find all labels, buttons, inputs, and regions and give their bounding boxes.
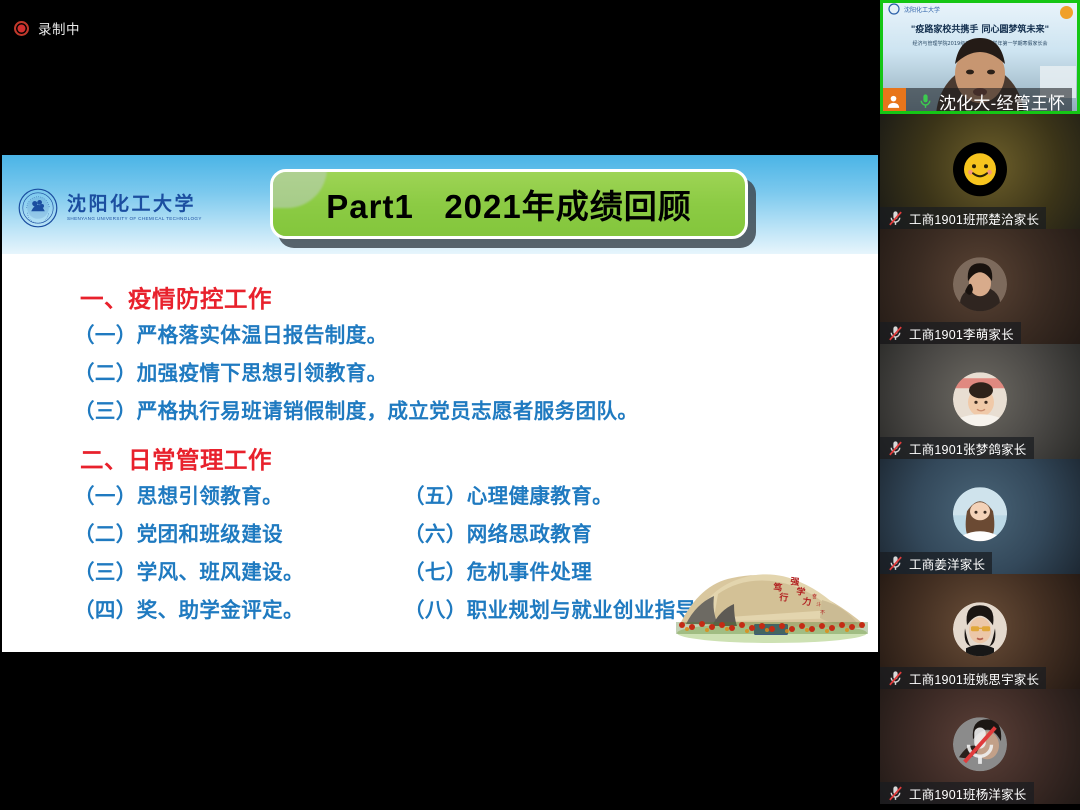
- participant-name: 工商姜洋家长: [909, 554, 985, 573]
- svg-text:沈阳化工大学: 沈阳化工大学: [904, 6, 940, 14]
- slide-title-text: Part1 2021年成绩回顾: [326, 180, 691, 228]
- avatar: [953, 257, 1007, 311]
- plaque-gloss: [270, 169, 327, 208]
- photo-avatar-icon: [953, 602, 1007, 656]
- host-icon: [880, 88, 906, 114]
- participant-tile[interactable]: 工商1901班杨洋家长: [880, 689, 1080, 804]
- slide-body: 一、疫情防控工作 （一）严格落实体温日报告制度。 （二）加强疫情下思想引领教育。…: [2, 254, 878, 652]
- list-item: （一）严格落实体温日报告制度。: [74, 317, 878, 355]
- participant-tile[interactable]: 工商姜洋家长: [880, 459, 1080, 574]
- avatar: [953, 372, 1007, 426]
- section-2-right-column: （五）心理健康教育。 （六）网络思政教育 （七）危机事件处理 （八）职业规划与就…: [404, 478, 784, 630]
- section-1-list: （一）严格落实体温日报告制度。 （二）加强疫情下思想引领教育。 （三）严格执行易…: [74, 317, 878, 431]
- participant-tile[interactable]: 工商1901张梦鸽家长: [880, 344, 1080, 459]
- university-name-en: SHENYANG UNIVERSITY OF CHEMICAL TECHNOLO…: [67, 216, 202, 221]
- microphone-muted-icon: [887, 210, 904, 227]
- recording-label: 录制中: [38, 18, 80, 38]
- list-item: （二）党团和班级建设: [74, 516, 404, 554]
- avatar: [953, 487, 1007, 541]
- microphone-muted-icon: [887, 440, 904, 457]
- participant-tile[interactable]: 工商1901班邢楚洽家长: [880, 114, 1080, 229]
- participant-name: 沈化大-经管王怀: [939, 89, 1065, 114]
- photo-avatar-icon: [953, 257, 1007, 311]
- presentation-slide: 沈阳化工大学 SHENYANG UNIVERSITY OF CHEMICAL T…: [2, 155, 878, 652]
- university-name-cn: 沈阳化工大学: [67, 195, 202, 214]
- person-icon: [885, 93, 902, 110]
- participant-name: 工商1901班邢楚洽家长: [909, 209, 1039, 228]
- slide-header-band: 沈阳化工大学 SHENYANG UNIVERSITY OF CHEMICAL T…: [2, 155, 878, 254]
- participant-tile-active-speaker[interactable]: 沈阳化工大学 "疫路家校共携手 同心圆梦筑未来" 经济与管理学院2019级202…: [880, 0, 1080, 114]
- recording-indicator: 录制中: [0, 0, 880, 56]
- microphone-muted-icon: [887, 670, 904, 687]
- participant-tile[interactable]: 工商1901班姚思宇家长: [880, 574, 1080, 689]
- meeting-screen-share-window: 录制中 沈阳: [0, 0, 1080, 810]
- list-item: （三）学风、班风建设。: [74, 554, 404, 592]
- participant-tile[interactable]: 工商1901李萌家长: [880, 229, 1080, 344]
- participant-name: 工商1901张梦鸽家长: [909, 439, 1027, 458]
- slide-title-plaque: Part1 2021年成绩回顾: [270, 169, 748, 239]
- university-logo: 沈阳化工大学 SHENYANG UNIVERSITY OF CHEMICAL T…: [18, 188, 202, 228]
- shared-screen-stage: 沈阳化工大学 SHENYANG UNIVERSITY OF CHEMICAL T…: [0, 56, 880, 810]
- slide-section-1: 一、疫情防控工作 （一）严格落实体温日报告制度。 （二）加强疫情下思想引领教育。…: [2, 280, 878, 431]
- list-item: （七）危机事件处理: [404, 554, 784, 592]
- svg-text:"疫路家校共携手 同心圆梦筑未来": "疫路家校共携手 同心圆梦筑未来": [911, 23, 1050, 35]
- university-seal-icon: [18, 188, 58, 228]
- list-item: （二）加强疫情下思想引领教育。: [74, 355, 878, 393]
- avatar: [953, 602, 1007, 656]
- recording-dot-icon: [14, 21, 29, 36]
- participant-name: 工商1901班杨洋家长: [909, 784, 1027, 803]
- connection-status-dot: [1060, 6, 1073, 19]
- list-item: （五）心理健康教育。: [404, 478, 784, 516]
- participant-name: 工商1901李萌家长: [909, 324, 1014, 343]
- list-item: （六）网络思政教育: [404, 516, 784, 554]
- section-1-heading: 一、疫情防控工作: [80, 280, 878, 314]
- microphone-muted-icon: [887, 785, 904, 802]
- photo-avatar-icon: [953, 487, 1007, 541]
- microphone-icon: [917, 93, 934, 110]
- list-item: （八）职业规划与就业创业指导: [404, 592, 784, 630]
- participant-name-bar: 工商姜洋家长: [880, 552, 992, 574]
- photo-avatar-icon: [953, 372, 1007, 426]
- participant-name-bar: 工商1901李萌家长: [880, 322, 1021, 344]
- microphone-muted-icon: [887, 555, 904, 572]
- participant-name-bar: 工商1901班姚思宇家长: [880, 667, 1046, 689]
- avatar: [953, 142, 1007, 196]
- list-item: （一）思想引领教育。: [74, 478, 404, 516]
- section-2-columns: （一）思想引领教育。 （二）党团和班级建设 （三）学风、班风建设。 （四）奖、助…: [74, 478, 878, 630]
- list-item: （四）奖、助学金评定。: [74, 592, 404, 630]
- speaker-name-bar: 沈化大-经管王怀: [880, 88, 1072, 114]
- participant-name: 工商1901班姚思宇家长: [909, 669, 1039, 688]
- microphone-muted-icon: [887, 325, 904, 342]
- section-2-left-column: （一）思想引领教育。 （二）党团和班级建设 （三）学风、班风建设。 （四）奖、助…: [74, 478, 404, 630]
- plaque-face: Part1 2021年成绩回顾: [270, 169, 748, 239]
- smiley-emoji-icon: [960, 149, 1000, 189]
- list-item: （三）严格执行易班请销假制度，成立党员志愿者服务团队。: [74, 393, 878, 431]
- section-2-heading: 二、日常管理工作: [80, 441, 878, 475]
- participant-name-bar: 工商1901班杨洋家长: [880, 782, 1034, 804]
- participant-name-bar: 工商1901张梦鸽家长: [880, 437, 1034, 459]
- slide-section-2: 二、日常管理工作 （一）思想引领教育。 （二）党团和班级建设 （三）学风、班风建…: [2, 441, 878, 630]
- participant-sidebar[interactable]: 沈阳化工大学 "疫路家校共携手 同心圆梦筑未来" 经济与管理学院2019级202…: [880, 0, 1080, 810]
- microphone-muted-overlay-icon: [957, 721, 1003, 767]
- participant-name-bar: 工商1901班邢楚洽家长: [880, 207, 1046, 229]
